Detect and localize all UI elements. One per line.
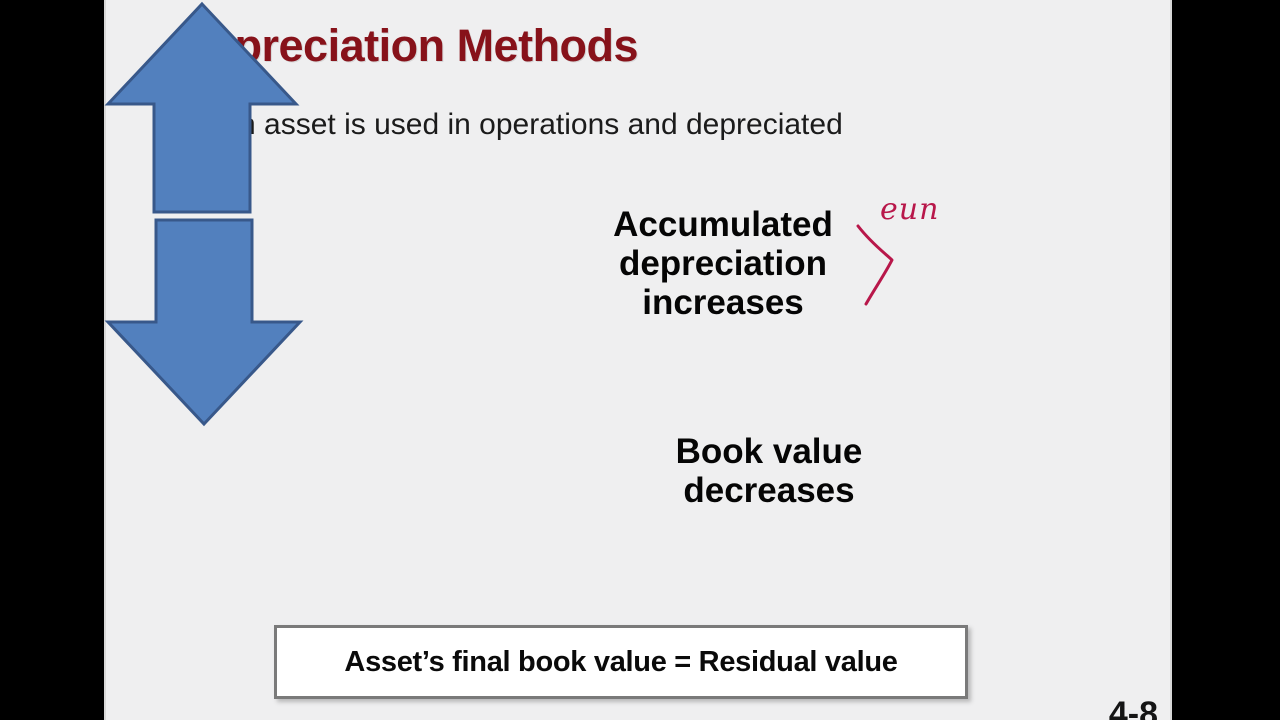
caption-accumulated-depreciation: Accumulated depreciation increases xyxy=(574,205,872,323)
annotation-text: eun xyxy=(880,192,939,227)
handwritten-annotation: eun xyxy=(852,192,1052,310)
arrow-up-icon xyxy=(104,0,300,216)
letterbox-bar-right xyxy=(1172,0,1280,720)
callout-text: Asset’s final book value = Residual valu… xyxy=(344,646,897,679)
arrow-down-icon xyxy=(104,216,304,428)
letterbox-bar-left xyxy=(0,0,104,720)
presentation-slide: Depreciation Methods As an asset is used… xyxy=(104,0,1172,720)
caption-book-value: Book value decreases xyxy=(634,432,904,510)
video-viewport: Depreciation Methods As an asset is used… xyxy=(0,0,1280,720)
callout-box: Asset’s final book value = Residual valu… xyxy=(274,625,968,699)
annotation-brace-icon xyxy=(852,192,1052,310)
page-number: 4-8 xyxy=(1109,695,1158,720)
